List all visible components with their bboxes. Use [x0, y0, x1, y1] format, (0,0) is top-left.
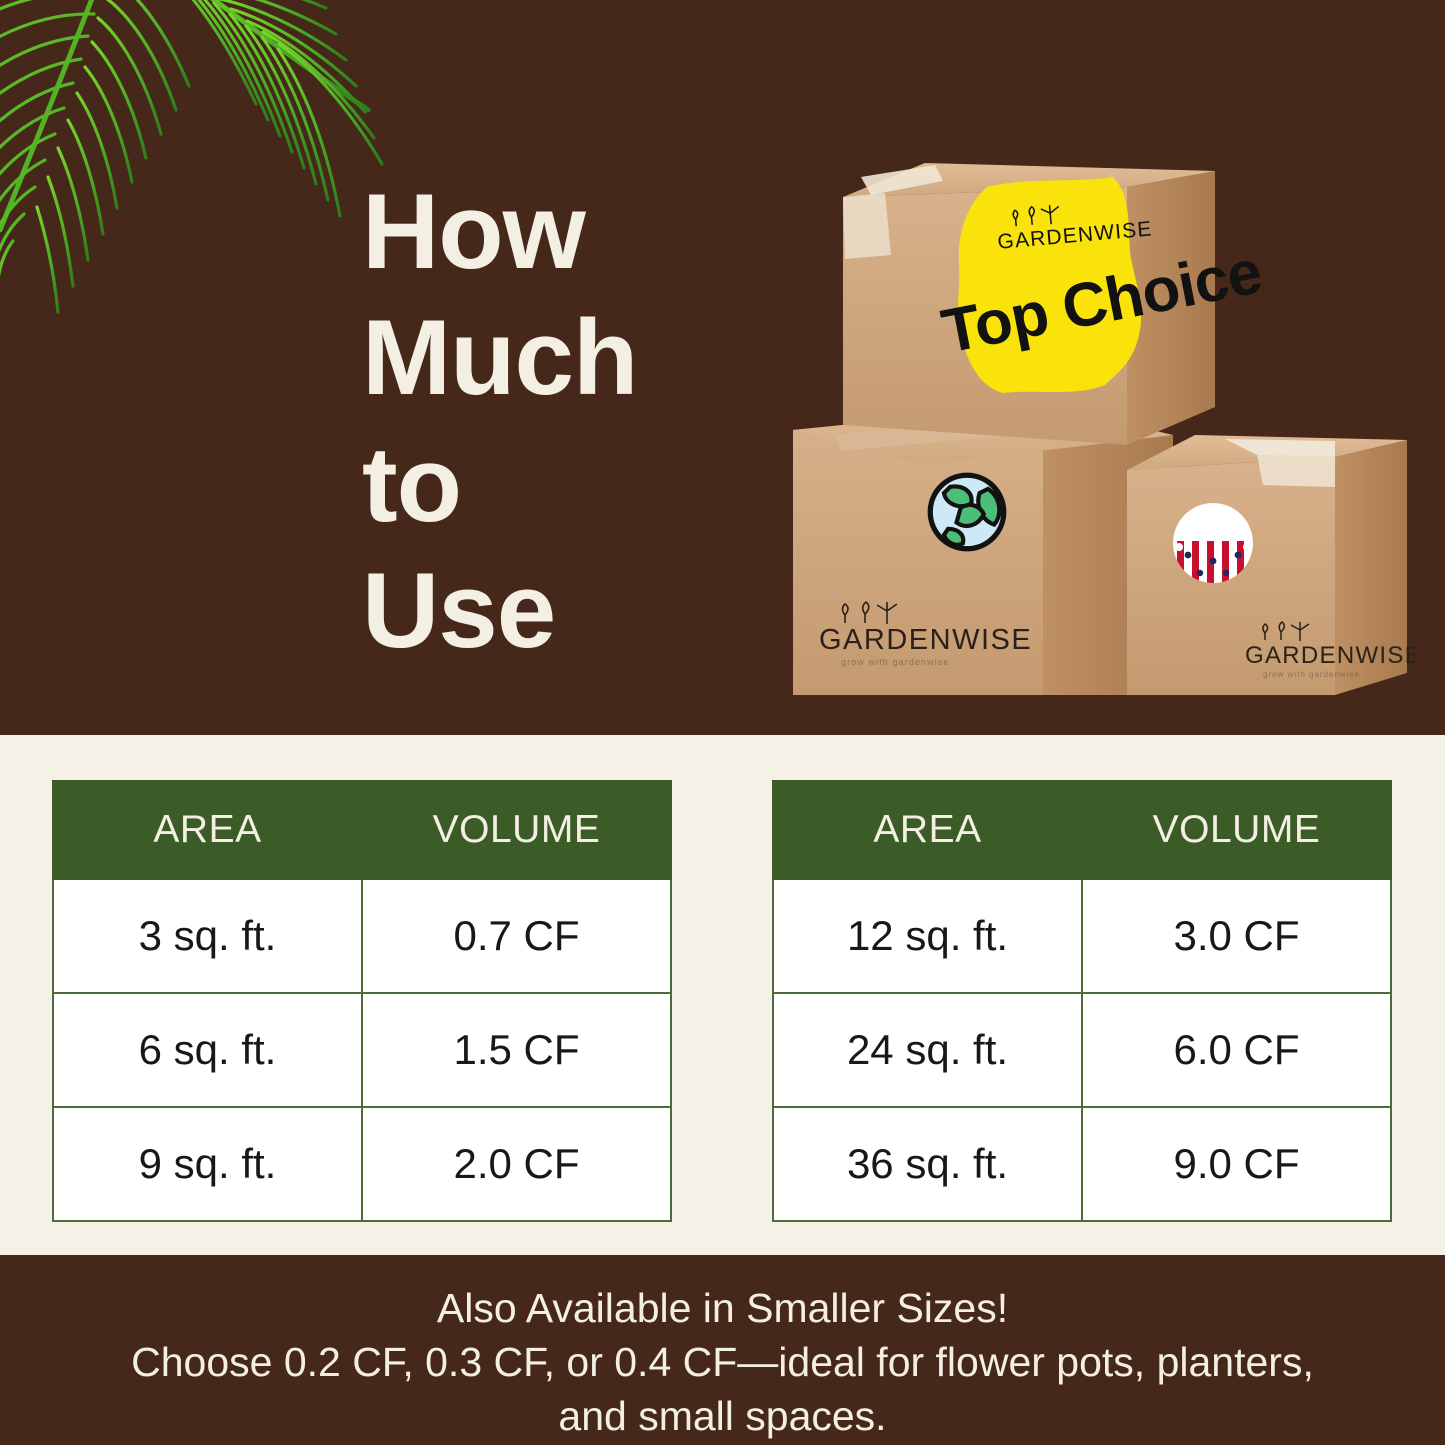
table-header-row: AREA VOLUME — [53, 781, 671, 879]
table-row: 6 sq. ft. 1.5 CF — [53, 993, 671, 1107]
footer-line-2: Choose 0.2 CF, 0.3 CF, or 0.4 CF—ideal f… — [0, 1335, 1445, 1389]
middle-box: GARDENWISE grow with gardenwise — [793, 405, 1173, 695]
footer-line-3: and small spaces. — [0, 1389, 1445, 1443]
table-row: 24 sq. ft. 6.0 CF — [773, 993, 1391, 1107]
svg-text:GARDENWISE: GARDENWISE — [1245, 642, 1415, 669]
cell-volume: 1.5 CF — [362, 993, 671, 1107]
table-row: 12 sq. ft. 3.0 CF — [773, 879, 1391, 993]
table-row: 3 sq. ft. 0.7 CF — [53, 879, 671, 993]
cell-volume: 6.0 CF — [1082, 993, 1391, 1107]
page-title-line-1: How — [362, 168, 762, 294]
tables-section: AREA VOLUME 3 sq. ft. 0.7 CF 6 sq. ft. 1… — [0, 735, 1445, 1255]
page-title-line-2: Much to — [362, 294, 762, 547]
small-areas-table: AREA VOLUME 3 sq. ft. 0.7 CF 6 sq. ft. 1… — [52, 780, 672, 1222]
svg-text:GARDENWISE: GARDENWISE — [819, 624, 1032, 656]
footer-note: Also Available in Smaller Sizes! Choose … — [0, 1255, 1445, 1445]
top-box: GARDENWISE Top Choice — [843, 163, 1267, 445]
page-title: How Much to Use — [362, 168, 762, 673]
cell-area: 9 sq. ft. — [53, 1107, 362, 1221]
cell-area: 36 sq. ft. — [773, 1107, 1082, 1221]
cell-area: 6 sq. ft. — [53, 993, 362, 1107]
right-box: GARDENWISE grow with gardenwise — [1127, 435, 1415, 695]
earth-leaf-icon — [930, 475, 1004, 549]
page-title-line-3: Use — [362, 547, 762, 673]
product-boxes-image: GARDENWISE grow with gardenwise — [775, 135, 1415, 695]
table-header-row: AREA VOLUME — [773, 781, 1391, 879]
table-row: 36 sq. ft. 9.0 CF — [773, 1107, 1391, 1221]
svg-text:grow with gardenwise: grow with gardenwise — [841, 657, 950, 667]
cell-area: 3 sq. ft. — [53, 879, 362, 993]
cell-area: 24 sq. ft. — [773, 993, 1082, 1107]
infographic-page: How Much to Use — [0, 0, 1445, 1445]
column-header-area: AREA — [53, 781, 362, 879]
cell-area: 12 sq. ft. — [773, 879, 1082, 993]
column-header-area: AREA — [773, 781, 1082, 879]
column-header-volume: VOLUME — [362, 781, 671, 879]
cell-volume: 3.0 CF — [1082, 879, 1391, 993]
footer-line-1: Also Available in Smaller Sizes! — [0, 1281, 1445, 1335]
svg-text:grow with gardenwise: grow with gardenwise — [1263, 670, 1360, 679]
palm-leaf-icon — [0, 0, 390, 360]
column-header-volume: VOLUME — [1082, 781, 1391, 879]
cell-volume: 9.0 CF — [1082, 1107, 1391, 1221]
cell-volume: 0.7 CF — [362, 879, 671, 993]
large-areas-table: AREA VOLUME 12 sq. ft. 3.0 CF 24 sq. ft.… — [772, 780, 1392, 1222]
hero-section: How Much to Use — [0, 0, 1445, 735]
table-row: 9 sq. ft. 2.0 CF — [53, 1107, 671, 1221]
cell-volume: 2.0 CF — [362, 1107, 671, 1221]
